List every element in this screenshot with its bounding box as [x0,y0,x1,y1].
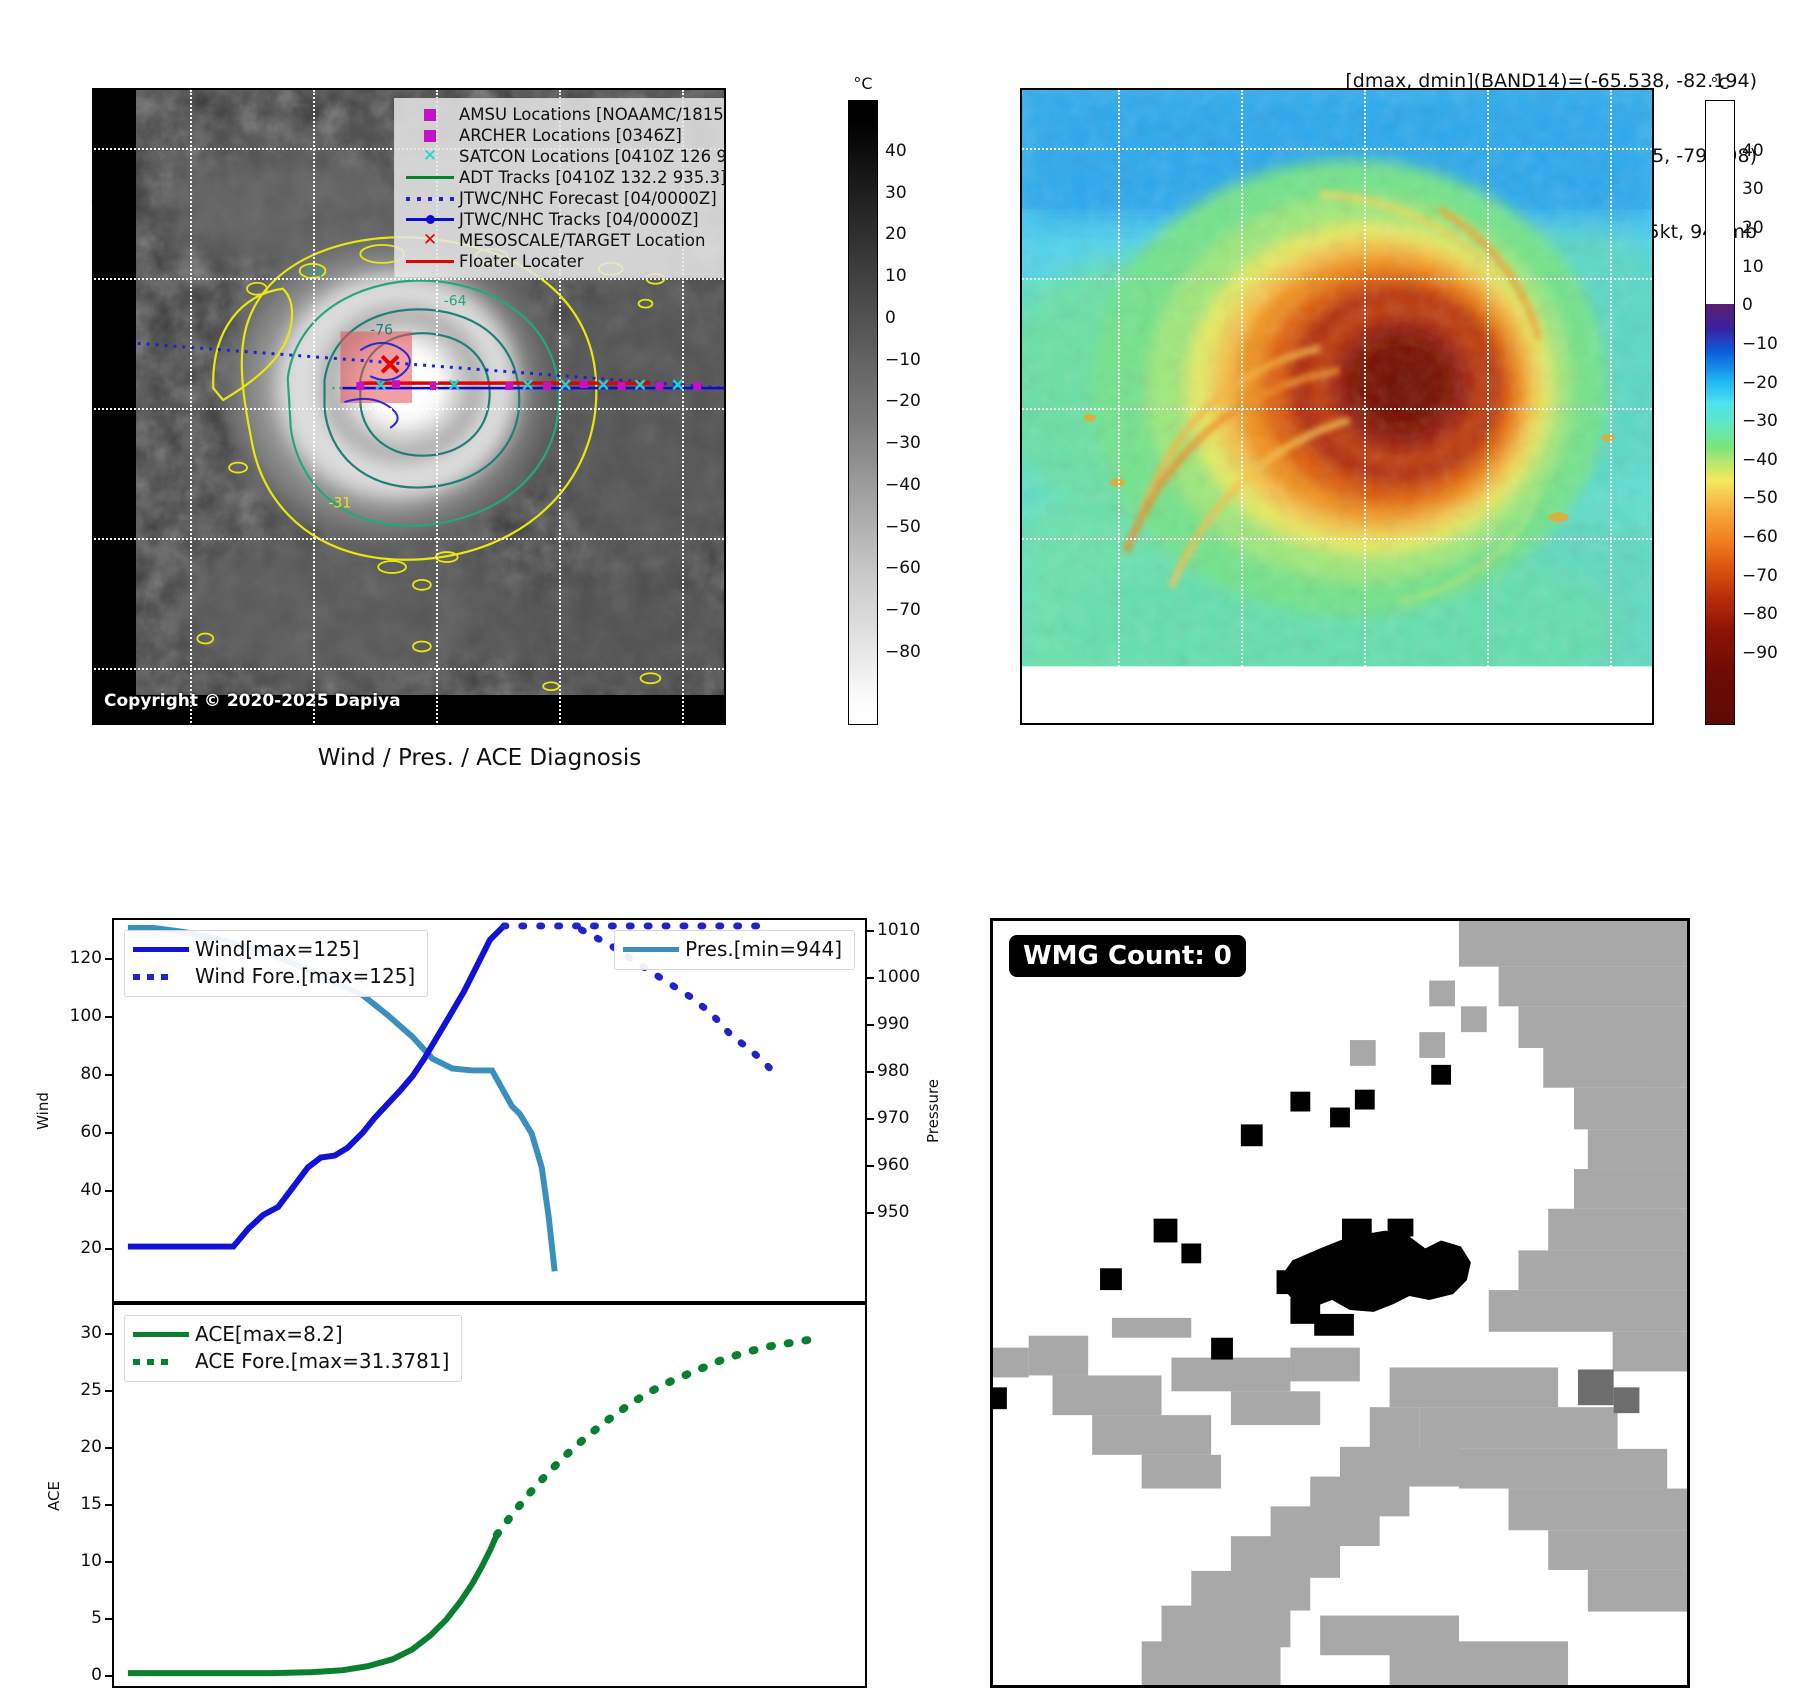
ir-cb-tick: 10 [885,266,907,286]
tick-mark [105,1618,114,1620]
tick-mark [105,1675,114,1677]
color-cb-tick: 20 [1742,218,1764,238]
solid-line-icon [133,1332,195,1337]
color-cb-tick: −60 [1742,527,1778,547]
contour-label: -31 [329,495,352,511]
tick-mark [105,1561,114,1563]
legend-item-amsu[interactable]: AMSU Locations [NOAAMC/1815Z 104 973] [401,104,726,125]
pressure-ytick: 1000 [877,967,920,987]
line-marker-icon [401,260,459,263]
gridline-lat-12 [1022,538,1652,540]
legend-item-jtwc-tracks[interactable]: JTWC/NHC Tracks [04/0000Z] [401,209,726,230]
tick-mark [865,1212,874,1214]
pressure-ytick: 990 [877,1014,909,1034]
wind-ytick: 40 [80,1180,102,1200]
gridline-lat-12 [94,538,724,540]
status-badge: WMG Count: 0 [1009,935,1246,977]
gridline-lat-16 [1022,278,1652,280]
ir-cb-tick: −50 [885,517,921,537]
x-marker-icon: ✕ [401,232,459,249]
tick-mark [105,1132,114,1134]
ace-ytick: 10 [80,1551,102,1571]
legend-label: Pres.[min=944] [685,936,842,963]
tick-mark [105,1248,114,1250]
gridline-lon-134 [313,90,315,723]
legend-label: ACE Fore.[max=31.3781] [195,1348,449,1375]
tick-mark [865,930,874,932]
gridline-lon-132 [1364,90,1366,723]
square-marker-icon [401,109,459,121]
legend-label: Wind Fore.[max=125] [195,963,415,990]
ir-legend[interactable]: AMSU Locations [NOAAMC/1815Z 104 973] AR… [394,98,726,278]
wmg-mask-image [993,921,1687,1685]
color-cb-tick: −80 [1742,604,1778,624]
ace-ytick: 20 [80,1437,102,1457]
diagnosis-section-title: Wind / Pres. / ACE Diagnosis [92,745,867,771]
pressure-ytick: 950 [877,1202,909,1222]
ir-cb-tick: −60 [885,558,921,578]
gridline-lon-130 [1487,90,1489,723]
ir-cb-tick: −40 [885,475,921,495]
wind-pressure-chart[interactable]: 120 100 80 60 40 20 1010 1000 990 980 97… [112,918,867,1303]
color-cb-tick: −10 [1742,334,1778,354]
solid-line-icon [133,947,195,952]
wind-legend[interactable]: Wind[max=125] Wind Fore.[max=125] [124,930,428,997]
dotted-line-icon [133,974,195,980]
ace-ytick: 5 [91,1608,102,1628]
legend-item-archer[interactable]: ARCHER Locations [0346Z] [401,125,726,146]
pressure-legend[interactable]: Pres.[min=944] [614,930,855,970]
square-marker-icon [401,130,459,142]
tick-mark [105,1447,114,1449]
ir-cb-tick: 30 [885,183,907,203]
ace-chart[interactable]: 30 25 20 15 10 5 0 ACE ACE[max=8.2] ACE … [112,1303,867,1688]
ace-ytick: 25 [80,1380,102,1400]
wmg-panel[interactable]: WMG Count: 0 [990,918,1690,1688]
wind-axis-label: Wind [34,1092,52,1130]
color-cb-tick: −90 [1742,643,1778,663]
color-cb-tick: −50 [1742,488,1778,508]
wind-ytick: 20 [80,1238,102,1258]
ir-cb-tick: −80 [885,642,921,662]
color-cb-tick: 10 [1742,257,1764,277]
legend-label: ACE[max=8.2] [195,1321,343,1348]
color-cb-tick: −40 [1742,450,1778,470]
legend-item-wind-forecast[interactable]: Wind Fore.[max=125] [133,963,415,990]
contour-label: -76 [370,322,393,338]
ir-colorbar-title: °C [853,74,872,93]
line-marker-icon [401,176,459,179]
ace-axis-label: ACE [45,1481,63,1511]
tick-mark [105,1074,114,1076]
wind-ytick: 100 [70,1006,102,1026]
legend-label: Floater Locater [459,251,584,273]
dotted-line-icon [133,1359,195,1365]
ir-cb-tick: 0 [885,308,896,328]
gridline-lon-134 [1241,90,1243,723]
legend-item-wind[interactable]: Wind[max=125] [133,936,415,963]
wind-ytick: 120 [70,948,102,968]
legend-label: MESOSCALE/TARGET Location [459,230,705,252]
pressure-axis-label: Pressure [924,1078,942,1142]
tick-mark [865,1071,874,1073]
ir-cb-tick: 40 [885,141,907,161]
tick-mark [105,1390,114,1392]
legend-label: SATCON Locations [0410Z 126 946] [459,146,726,168]
tick-mark [105,1190,114,1192]
gridline-lat-14 [94,408,724,410]
ir-color-image [1022,90,1652,723]
tick-mark [865,1024,874,1026]
tick-mark [865,1118,874,1120]
tick-mark [865,977,874,979]
legend-item-floater-locater[interactable]: Floater Locater [401,251,726,272]
line-with-dot-icon [401,218,459,222]
legend-label: JTWC/NHC Forecast [04/0000Z] [459,188,717,210]
pressure-ytick: 960 [877,1155,909,1175]
color-cb-tick: 30 [1742,179,1764,199]
solid-line-icon [623,947,685,952]
ace-legend[interactable]: ACE[max=8.2] ACE Fore.[max=31.3781] [124,1315,462,1382]
ace-ytick: 30 [80,1323,102,1343]
gridline-lat-18 [1022,148,1652,150]
gridline-lat-10 [94,668,724,670]
ir-cb-tick: 20 [885,224,907,244]
ir-color-panel[interactable]: 18°N 16°N 14°N 12°N 10°N 136°W 134°W 132… [1020,88,1654,725]
ace-ytick: 15 [80,1494,102,1514]
legend-item-satcon[interactable]: ✕ SATCON Locations [0410Z 126 946] [401,146,726,167]
ir-cb-tick: −30 [885,433,921,453]
ir-colorbar: °C 40 30 20 10 0 −10 −20 −30 −40 −50 −60… [848,100,878,725]
gridline-lat-16 [94,278,724,280]
color-cb-tick: −30 [1742,411,1778,431]
legend-label: ARCHER Locations [0346Z] [459,125,682,147]
color-cb-tick: −70 [1742,566,1778,586]
legend-item-jtwc-forecast[interactable]: JTWC/NHC Forecast [04/0000Z] [401,188,726,209]
gridline-lon-136 [1118,90,1120,723]
ace-ytick: 0 [91,1665,102,1685]
tick-mark [105,1016,114,1018]
legend-item-ace[interactable]: ACE[max=8.2] [133,1321,449,1348]
copyright-text: Copyright © 2020-2025 Dapiya [104,691,401,711]
tick-mark [105,1333,114,1335]
pressure-ytick: 970 [877,1108,909,1128]
ir-cb-tick: −10 [885,350,921,370]
tick-mark [105,1504,114,1506]
wind-ytick: 80 [80,1064,102,1084]
pressure-ytick: 1010 [877,920,920,940]
ir-left-mask [94,90,136,723]
ir-grayscale-panel[interactable]: -54 -64 -76 -31 18°N 16°N 14°N 12°N 10°N [92,88,726,725]
legend-label: Wind[max=125] [195,936,359,963]
contour-label: -64 [444,294,467,310]
ir-cb-tick: −20 [885,391,921,411]
tick-mark [105,958,114,960]
dotted-line-icon [401,197,459,201]
legend-label: AMSU Locations [NOAAMC/1815Z 104 973] [459,104,726,126]
color-cb-tick: −20 [1742,373,1778,393]
wind-ytick: 60 [80,1122,102,1142]
color-cb-tick: 0 [1742,295,1753,315]
x-marker-icon: ✕ [401,148,459,165]
dashboard-root: GOES-18 BAND14-DIAS MESOSCALE Time: 2025… [0,0,1797,1690]
color-colorbar: °C 40 30 20 10 0 −10 −20 −30 −40 −50 −60… [1705,100,1735,725]
ir-cb-tick: −70 [885,600,921,620]
legend-item-adt-tracks[interactable]: ADT Tracks [0410Z 132.2 935.3] [401,167,726,188]
legend-label: JTWC/NHC Tracks [04/0000Z] [459,209,699,231]
color-cb-tick: 40 [1742,141,1764,161]
color-colorbar-title: °C [1710,74,1729,93]
tick-mark [865,1165,874,1167]
gridline-lon-128 [1610,90,1612,723]
gridline-lat-10 [1022,668,1652,670]
legend-label: ADT Tracks [0410Z 132.2 935.3] [459,167,726,189]
legend-item-ace-forecast[interactable]: ACE Fore.[max=31.3781] [133,1348,449,1375]
pressure-ytick: 980 [877,1061,909,1081]
gridline-lat-14 [1022,408,1652,410]
gridline-lon-136 [190,90,192,723]
legend-item-pressure[interactable]: Pres.[min=944] [623,936,842,963]
legend-item-mesoscale-target[interactable]: ✕ MESOSCALE/TARGET Location [401,230,726,251]
